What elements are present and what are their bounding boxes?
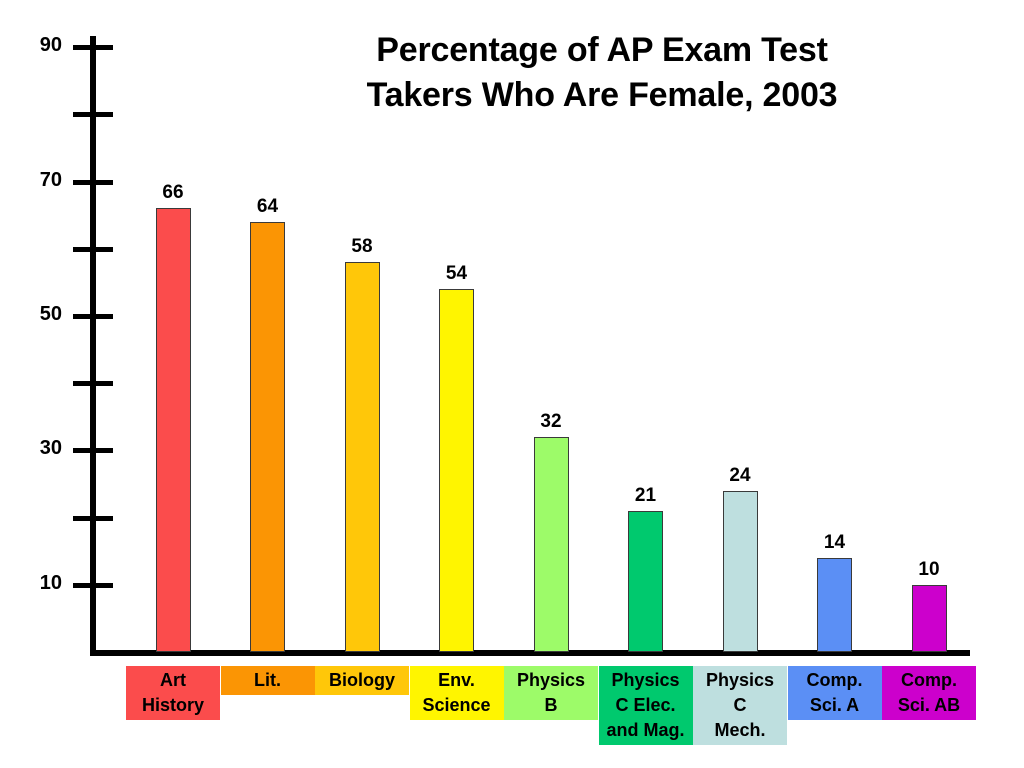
- category-label-4[interactable]: PhysicsB: [504, 666, 598, 720]
- bar-value-label-6: 24: [710, 465, 770, 487]
- category-label-1[interactable]: Lit.: [221, 666, 315, 695]
- category-label-2[interactable]: Biology: [315, 666, 409, 695]
- bar-value-label-1: 64: [238, 196, 298, 218]
- category-label-2-line-0: Biology: [315, 668, 409, 693]
- bar-value-label-7: 14: [805, 532, 865, 554]
- category-label-8-line-1: Sci. AB: [882, 693, 976, 718]
- category-label-5-line-1: C Elec.: [599, 693, 693, 718]
- category-label-3-line-0: Env.: [410, 668, 504, 693]
- category-label-0[interactable]: ArtHistory: [126, 666, 220, 720]
- chart-page: Percentage of AP Exam Test Takers Who Ar…: [0, 0, 1024, 768]
- category-label-7-line-1: Sci. A: [788, 693, 882, 718]
- category-label-8-line-0: Comp.: [882, 668, 976, 693]
- bar-2: [345, 262, 380, 652]
- category-label-6-line-2: Mech.: [693, 718, 787, 743]
- bar-1: [250, 222, 285, 652]
- bar-value-label-4: 32: [521, 411, 581, 433]
- category-label-4-line-0: Physics: [504, 668, 598, 693]
- plot-area: 666458543221241410: [0, 0, 1024, 768]
- category-label-5-line-2: and Mag.: [599, 718, 693, 743]
- category-label-3[interactable]: Env.Science: [410, 666, 504, 720]
- category-label-8[interactable]: Comp.Sci. AB: [882, 666, 976, 720]
- bar-4: [534, 437, 569, 652]
- category-label-7-line-0: Comp.: [788, 668, 882, 693]
- category-label-1-line-0: Lit.: [221, 668, 315, 693]
- category-label-3-line-1: Science: [410, 693, 504, 718]
- category-label-5-line-0: Physics: [599, 668, 693, 693]
- bar-value-label-0: 66: [143, 182, 203, 204]
- category-label-7[interactable]: Comp.Sci. A: [788, 666, 882, 720]
- bar-6: [723, 491, 758, 652]
- bar-0: [156, 208, 191, 652]
- category-label-4-line-1: B: [504, 693, 598, 718]
- category-label-6[interactable]: PhysicsCMech.: [693, 666, 787, 745]
- bar-8: [912, 585, 947, 652]
- bar-7: [817, 558, 852, 652]
- category-label-6-line-1: C: [693, 693, 787, 718]
- bar-value-label-8: 10: [899, 559, 959, 581]
- bar-value-label-5: 21: [616, 485, 676, 507]
- bar-3: [439, 289, 474, 652]
- category-label-6-line-0: Physics: [693, 668, 787, 693]
- bar-value-label-2: 58: [332, 236, 392, 258]
- category-label-0-line-1: History: [126, 693, 220, 718]
- category-label-row: ArtHistoryLit.BiologyEnv.SciencePhysicsB…: [0, 666, 1024, 766]
- bar-5: [628, 511, 663, 652]
- category-label-0-line-0: Art: [126, 668, 220, 693]
- category-label-5[interactable]: PhysicsC Elec.and Mag.: [599, 666, 693, 745]
- bar-value-label-3: 54: [427, 263, 487, 285]
